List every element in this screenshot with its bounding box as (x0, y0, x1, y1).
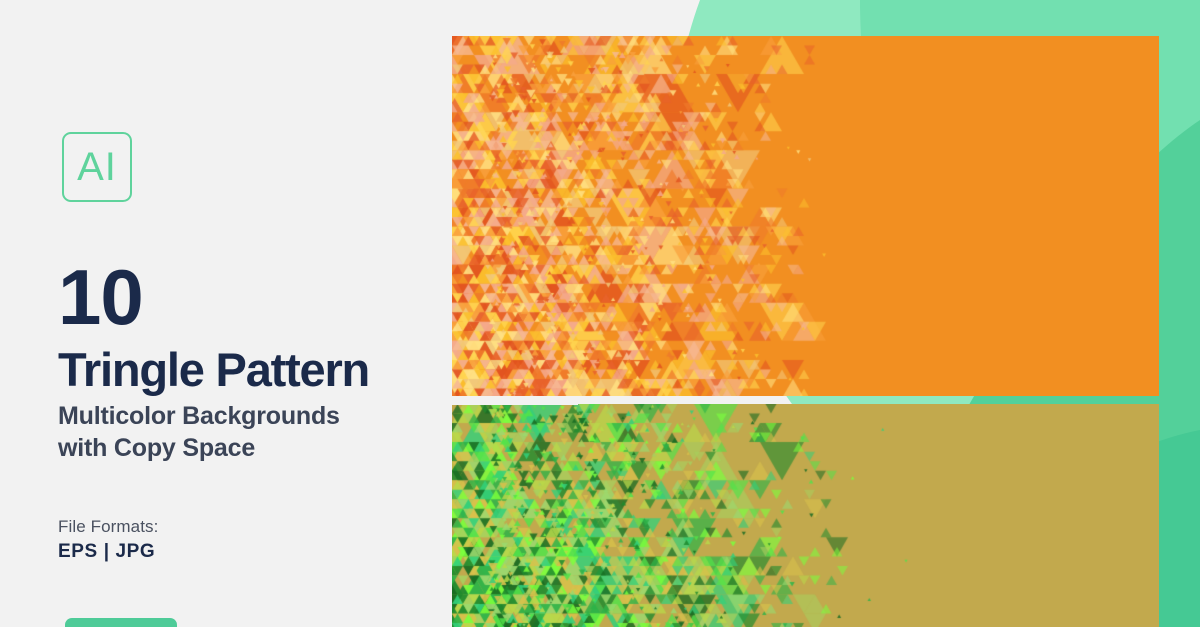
adobe-illustrator-ai-badge-icon: AI (62, 132, 132, 202)
page-subtitle-line-1: Multicolor Backgrounds (58, 400, 340, 432)
preview-card-green[interactable] (452, 404, 1159, 627)
poster-canvas: AI 10 Tringle Pattern Multicolor Backgro… (0, 0, 1200, 627)
item-count: 10 (58, 258, 143, 336)
page-subtitle-line-2: with Copy Space (58, 432, 340, 464)
info-panel: AI 10 Tringle Pattern Multicolor Backgro… (0, 0, 452, 627)
file-formats-value: EPS | JPG (58, 541, 155, 563)
cta-button[interactable] (65, 618, 177, 627)
preview-card-orange[interactable] (452, 36, 1159, 396)
file-formats-label: File Formats: (58, 517, 158, 537)
green-triangle-pattern (452, 404, 1159, 627)
page-title: Tringle Pattern (58, 346, 369, 393)
page-subtitle: Multicolor Backgrounds with Copy Space (58, 400, 340, 464)
card-gap-notch (452, 396, 578, 405)
ai-badge-label: AI (77, 147, 117, 187)
orange-triangle-pattern (452, 36, 1159, 396)
